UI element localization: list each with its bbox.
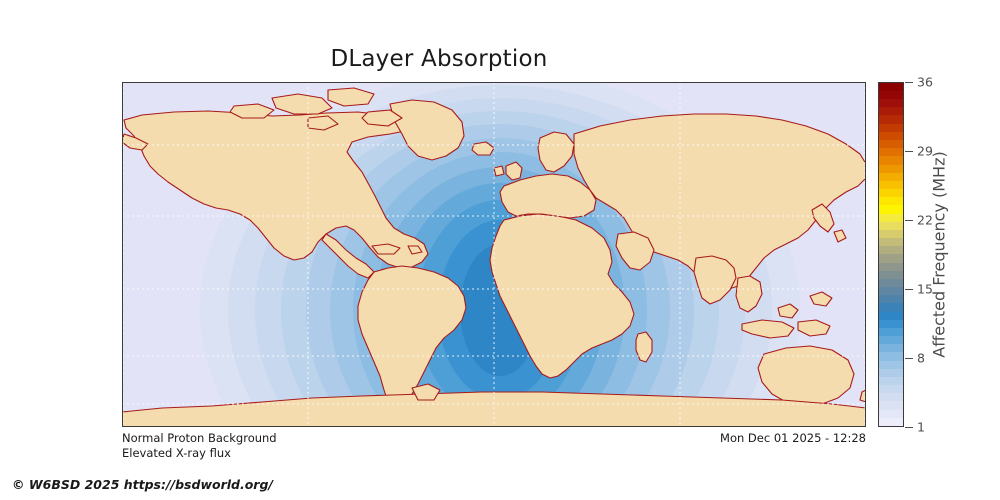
colorbar-segment-21: [879, 246, 903, 254]
colorbar-segment-29: [879, 181, 903, 189]
page-title: DLayer Absorption: [0, 46, 878, 72]
colorbar-segment-3: [879, 393, 903, 401]
colorbar-segment-27: [879, 197, 903, 205]
world-map[interactable]: [122, 82, 866, 427]
colorbar-tick-8: [905, 358, 913, 359]
colorbar-segment-40: [879, 91, 903, 99]
colorbar-segment-24: [879, 222, 903, 230]
colorbar-segment-32: [879, 156, 903, 164]
colorbar-segment-41: [879, 83, 903, 91]
colorbar-tick-22: [905, 220, 913, 221]
colorbar-segment-39: [879, 99, 903, 107]
colorbar-segment-10: [879, 336, 903, 344]
colorbar-segment-38: [879, 107, 903, 115]
colorbar-segment-19: [879, 263, 903, 271]
colorbar-segment-36: [879, 124, 903, 132]
colorbar-tick-1: [905, 427, 913, 428]
colorbar-tick-29: [905, 151, 913, 152]
colorbar-segment-16: [879, 287, 903, 295]
colorbar-segment-2: [879, 401, 903, 409]
colorbar-segment-5: [879, 377, 903, 385]
colorbar-segment-14: [879, 303, 903, 311]
status-note-proton: Normal Proton Background: [122, 431, 277, 445]
colorbar-segment-8: [879, 352, 903, 360]
colorbar-tick-label-8: 8: [917, 351, 925, 366]
colorbar-segment-17: [879, 279, 903, 287]
colorbar-tick-label-1: 1: [917, 420, 925, 435]
colorbar-tick-15: [905, 289, 913, 290]
colorbar-segment-11: [879, 328, 903, 336]
colorbar-segment-0: [879, 418, 903, 426]
timestamp: Mon Dec 01 2025 - 12:28: [720, 431, 866, 445]
colorbar-segment-20: [879, 254, 903, 262]
colorbar-segment-28: [879, 189, 903, 197]
colorbar-segment-4: [879, 385, 903, 393]
colorbar-segment-13: [879, 312, 903, 320]
colorbar-segment-31: [879, 165, 903, 173]
colorbar-segment-37: [879, 115, 903, 123]
colorbar-axis-label-text: Affected Frequency (MHz): [930, 151, 949, 357]
colorbar-segment-9: [879, 344, 903, 352]
colorbar-segment-34: [879, 140, 903, 148]
map-canvas: [122, 82, 866, 427]
colorbar-segment-35: [879, 132, 903, 140]
colorbar-axis-label: Affected Frequency (MHz): [925, 82, 953, 427]
colorbar[interactable]: Max 1815222936: [878, 82, 904, 427]
colorbar-gradient: [878, 82, 904, 427]
colorbar-segment-25: [879, 214, 903, 222]
footer-copyright: © W6BSD 2025 https://bsdworld.org/: [12, 477, 273, 492]
colorbar-segment-18: [879, 271, 903, 279]
status-note-xray: Elevated X-ray flux: [122, 446, 231, 460]
colorbar-segment-23: [879, 230, 903, 238]
colorbar-segment-22: [879, 238, 903, 246]
colorbar-segment-15: [879, 295, 903, 303]
colorbar-segment-6: [879, 369, 903, 377]
colorbar-segment-33: [879, 148, 903, 156]
colorbar-segment-7: [879, 361, 903, 369]
colorbar-segment-30: [879, 173, 903, 181]
colorbar-segment-1: [879, 410, 903, 418]
colorbar-tick-36: [905, 82, 913, 83]
colorbar-segment-26: [879, 205, 903, 213]
colorbar-segment-12: [879, 320, 903, 328]
